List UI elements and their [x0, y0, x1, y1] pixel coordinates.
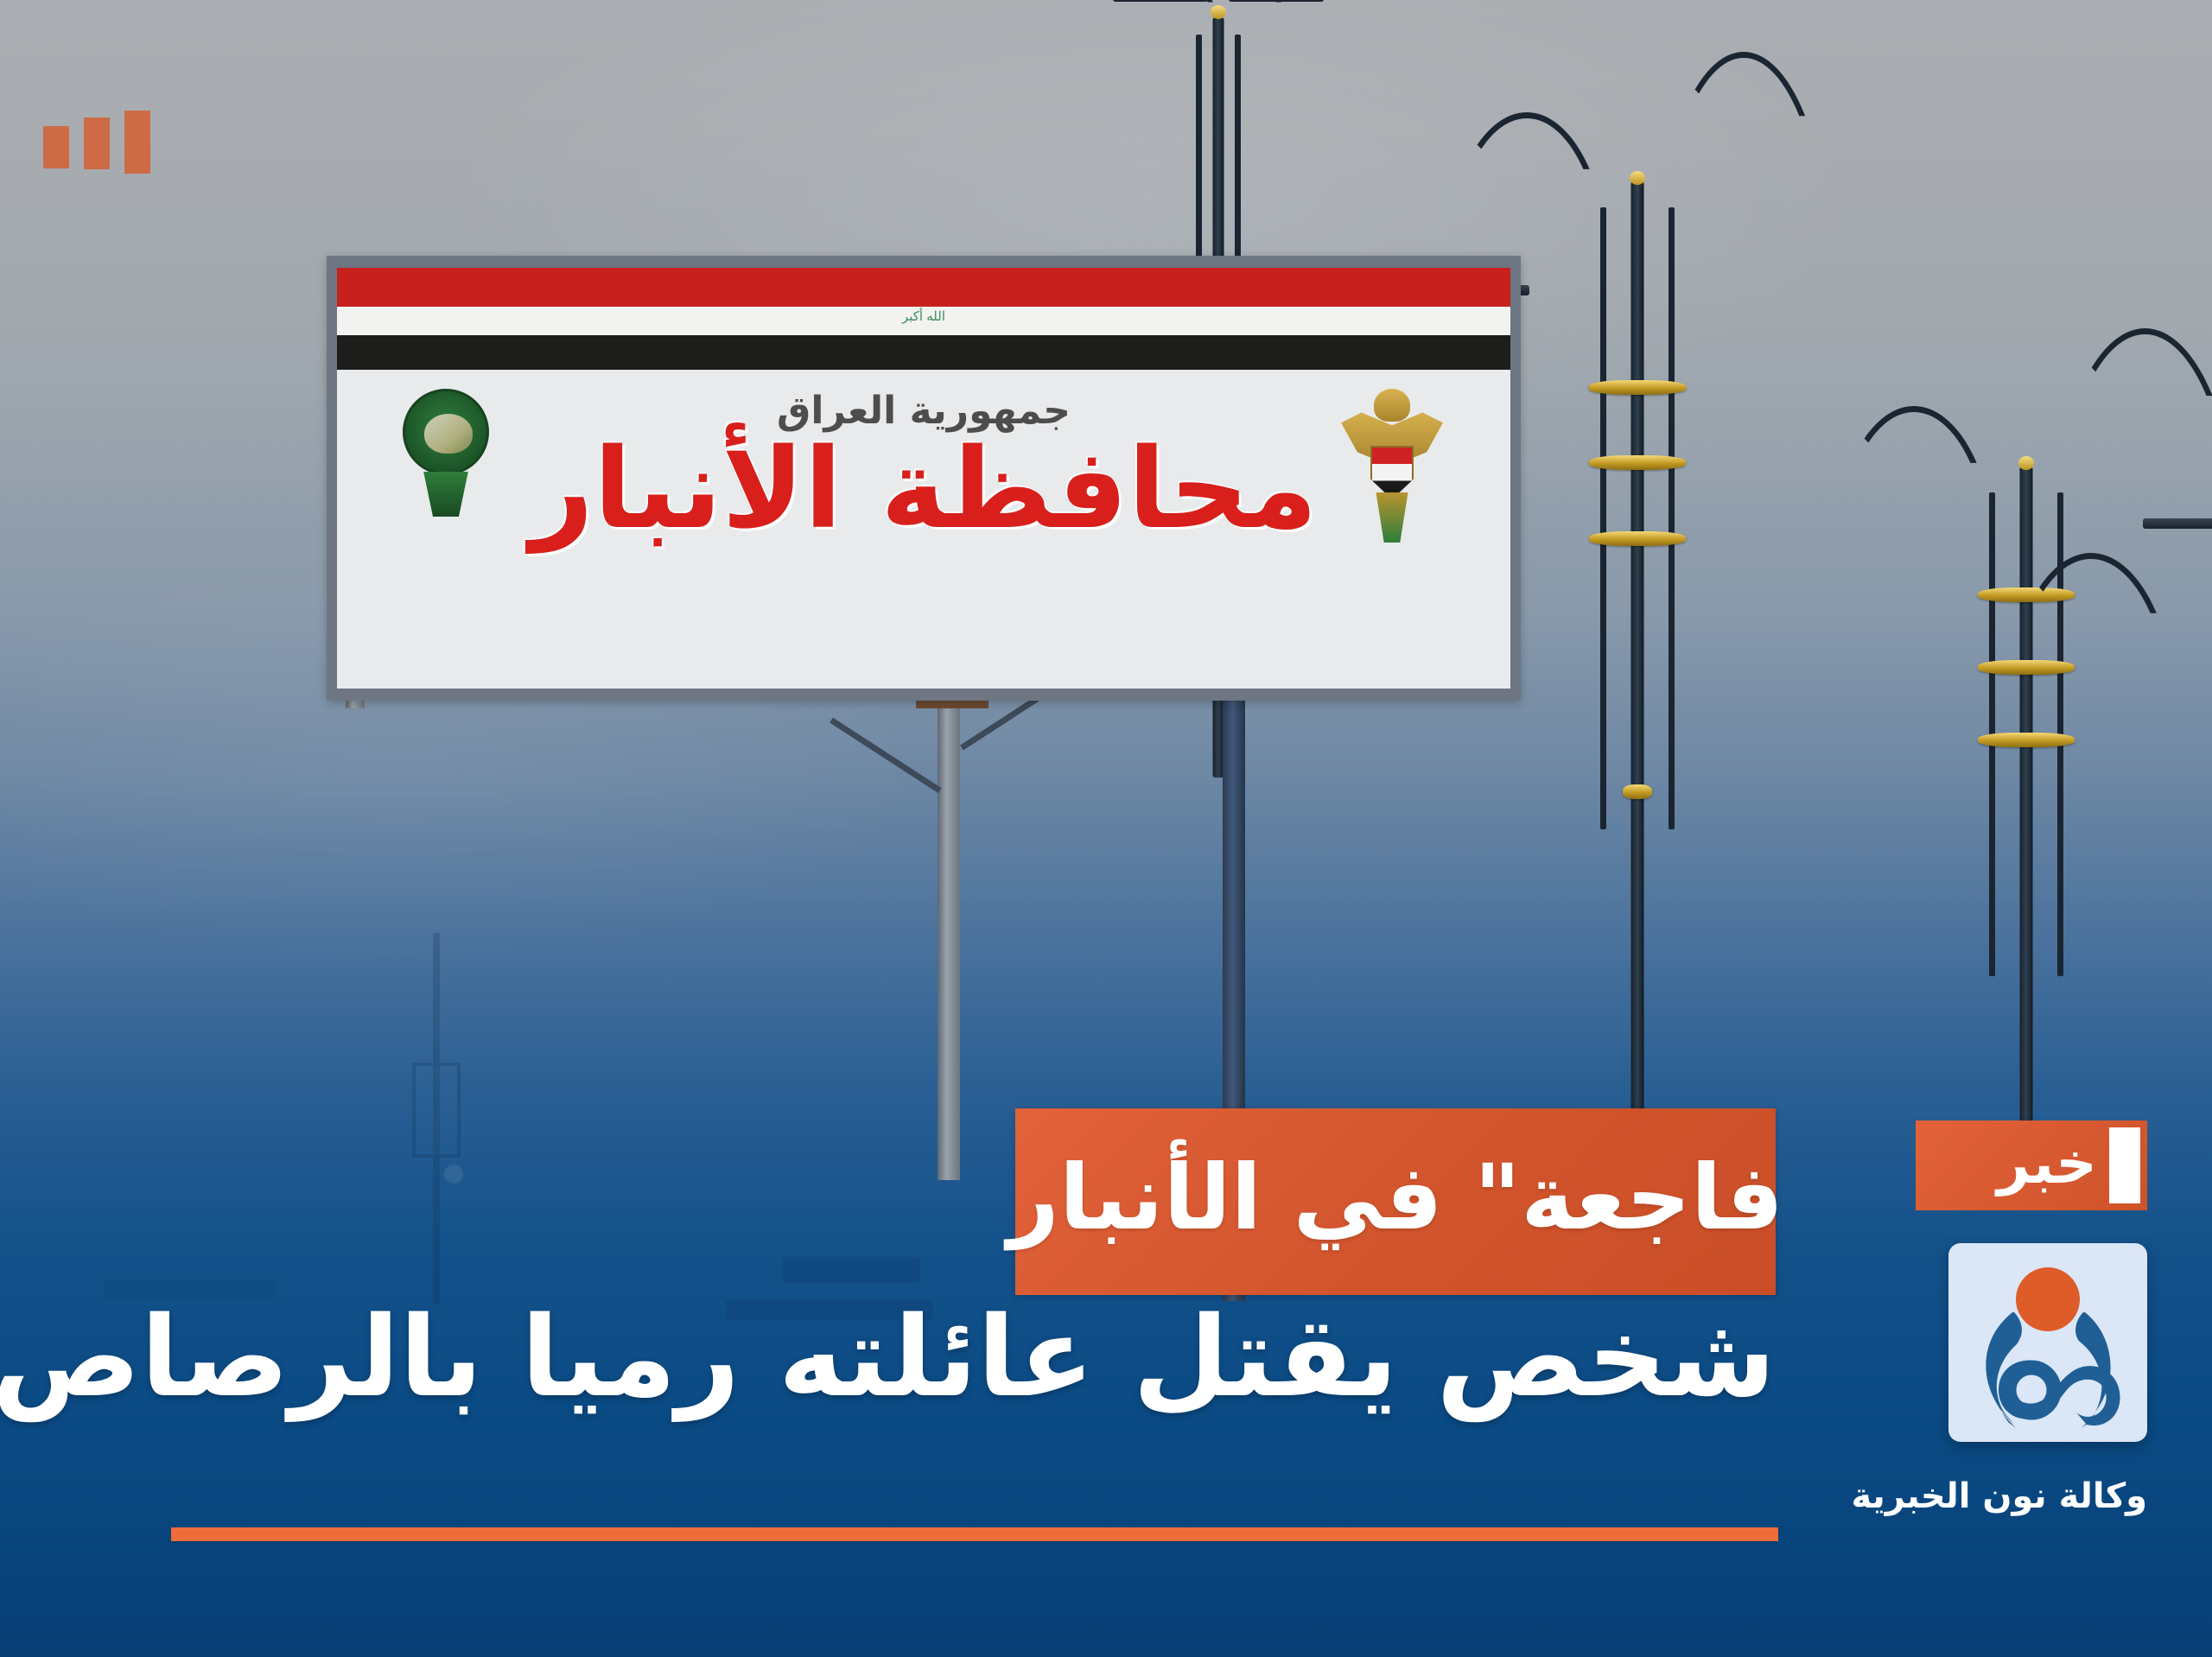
- street-lamp-post: [2134, 484, 2212, 1089]
- headline-kicker-text: فاجعة" في الأنبار: [1007, 1145, 1783, 1259]
- billboard-face: الله أكبر جمهورية العراق محافظة الأنبار: [337, 268, 1510, 689]
- agency-logo-tile: [1948, 1243, 2147, 1442]
- shahada-text: الله أكبر: [902, 308, 945, 324]
- headline-kicker-badge: فاجعة" في الأنبار: [1015, 1108, 1776, 1295]
- orange-divider-rule: [171, 1527, 1778, 1541]
- iraqi-flag-strip: الله أكبر: [337, 268, 1510, 370]
- street-lamp-post: [1547, 35, 1728, 1123]
- anbar-governorate-billboard: الله أكبر جمهورية العراق محافظة الأنبار: [327, 256, 1521, 701]
- brand-column: خبر وكالة نون الخبرية: [1862, 1121, 2147, 1516]
- background-smudge: [782, 1257, 920, 1283]
- billboard-center-pole: [938, 696, 960, 1180]
- news-badge-white-bar: [2109, 1127, 2140, 1203]
- agency-name-text: وكالة نون الخبرية: [1916, 1476, 2147, 1516]
- billboard-text-area: جمهورية العراق محافظة الأنبار: [337, 370, 1510, 689]
- headline-main-text: شخص يقتل عائلته رميا بالرصاص: [341, 1298, 1776, 1418]
- billboard-title: محافظة الأنبار: [337, 432, 1510, 548]
- logo-figure-mark-icon: [1948, 1243, 2147, 1442]
- news-label-text: خبر: [1966, 1130, 2097, 1202]
- poster-canvas: الله أكبر جمهورية العراق محافظة الأنبار: [0, 0, 2212, 1657]
- news-label-badge: خبر: [1916, 1121, 2147, 1210]
- background-antenna-tower: [406, 933, 467, 1305]
- three-bars-watermark-icon: [43, 111, 150, 174]
